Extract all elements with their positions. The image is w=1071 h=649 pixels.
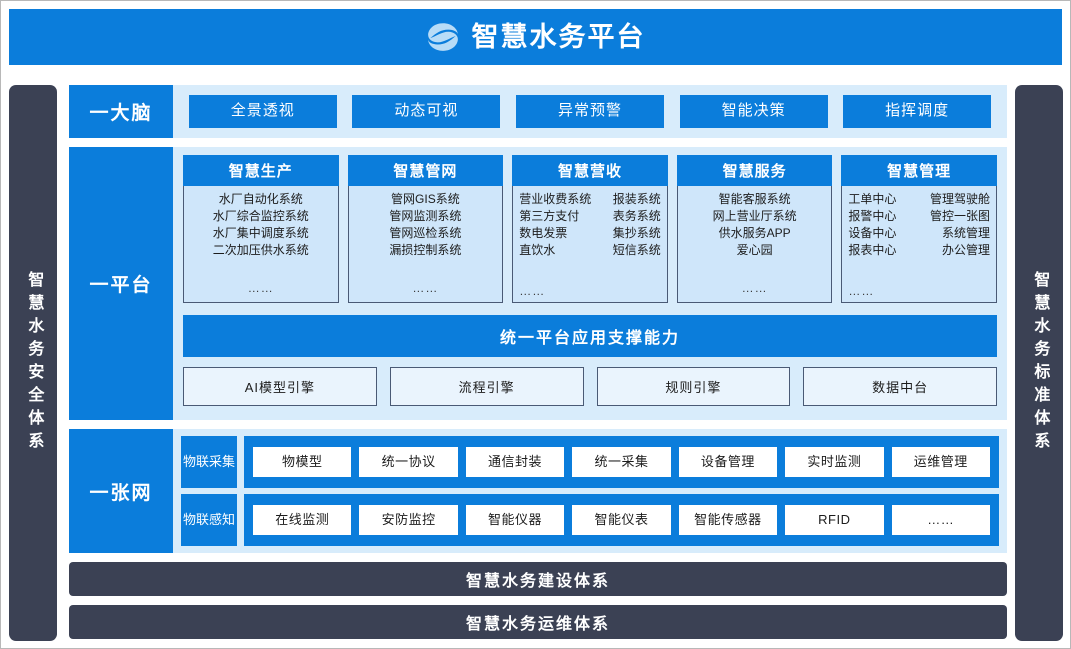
engine-chip[interactable]: AI模型引擎 xyxy=(183,367,377,406)
list-item[interactable]: 管网GIS系统 xyxy=(391,191,460,208)
network-row-iot-sensing: 物联感知 在线监测 安防监控 智能仪器 智能仪表 智能传感器 RFID …… xyxy=(181,494,999,546)
list-item-pair: 报表中心 办公管理 xyxy=(846,242,992,259)
network-sublabel: 物联采集 xyxy=(181,436,237,488)
list-item[interactable]: 直饮水 xyxy=(519,242,555,259)
list-item[interactable]: 集抄系统 xyxy=(613,225,661,242)
list-item[interactable]: 工单中心 xyxy=(848,191,896,208)
engine-chip-row: AI模型引擎 流程引擎 规则引擎 数据中台 xyxy=(183,367,997,406)
list-item[interactable]: 管网监测系统 xyxy=(389,208,461,225)
network-chip[interactable]: 安防监控 xyxy=(359,505,457,535)
network-row-iot-collection: 物联采集 物模型 统一协议 通信封装 统一采集 设备管理 实时监测 运维管理 xyxy=(181,436,999,488)
business-card-smart-pipe-network: 智慧管网 管网GIS系统 管网监测系统 管网巡检系统 漏损控制系统 …… xyxy=(348,155,504,303)
water-leaf-logo-icon xyxy=(426,20,460,54)
list-ellipsis: …… xyxy=(248,280,274,300)
card-title: 智慧生产 xyxy=(183,155,339,186)
left-side-panel-label: 智慧水务安全体系 xyxy=(25,271,42,455)
list-item[interactable]: 管网巡检系统 xyxy=(389,225,461,242)
list-item[interactable]: 管控一张图 xyxy=(930,208,990,225)
list-item[interactable]: 二次加压供水系统 xyxy=(213,242,309,259)
bottom-bar-operations-system: 智慧水务运维体系 xyxy=(69,605,1007,639)
network-chip[interactable]: 运维管理 xyxy=(892,447,990,477)
network-body: 物联采集 物模型 统一协议 通信封装 统一采集 设备管理 实时监测 运维管理 物… xyxy=(173,429,1007,553)
architecture-diagram-page: 智慧水务平台 智慧水务安全体系 智慧水务标准体系 一大脑 全景透视 动态可视 异… xyxy=(0,0,1071,649)
list-item[interactable]: 办公管理 xyxy=(942,242,990,259)
network-sublabel: 物联感知 xyxy=(181,494,237,546)
card-title: 智慧管网 xyxy=(348,155,504,186)
platform-body: 智慧生产 水厂自动化系统 水厂综合监控系统 水厂集中调度系统 二次加压供水系统 … xyxy=(173,147,1007,420)
list-item-pair: 工单中心 管理驾驶舱 xyxy=(846,191,992,208)
center-content: 一大脑 全景透视 动态可视 异常预警 智能决策 指挥调度 一平台 智慧生产 水厂… xyxy=(69,85,1007,641)
tier-one-platform: 一平台 智慧生产 水厂自动化系统 水厂综合监控系统 水厂集中调度系统 二次加压供… xyxy=(69,147,1007,420)
brain-chip-band: 全景透视 动态可视 异常预警 智能决策 指挥调度 xyxy=(173,85,1007,138)
network-chip[interactable]: 统一采集 xyxy=(572,447,670,477)
right-side-panel-standards: 智慧水务标准体系 xyxy=(1015,85,1063,641)
list-item-pair: 设备中心 系统管理 xyxy=(846,225,992,242)
card-item-list: 水厂自动化系统 水厂综合监控系统 水厂集中调度系统 二次加压供水系统 …… xyxy=(183,186,339,303)
network-chip[interactable]: 智能仪表 xyxy=(572,505,670,535)
list-item[interactable]: 水厂自动化系统 xyxy=(219,191,303,208)
business-card-smart-management: 智慧管理 工单中心 管理驾驶舱 报警中心 管控一张图 设备中心 xyxy=(841,155,997,303)
network-chip[interactable]: 通信封装 xyxy=(466,447,564,477)
card-item-list: 营业收费系统 报装系统 第三方支付 表务系统 数电发票 集抄系统 xyxy=(512,186,668,303)
right-side-panel-label: 智慧水务标准体系 xyxy=(1031,271,1048,455)
business-card-smart-revenue: 智慧营收 营业收费系统 报装系统 第三方支付 表务系统 数电发票 xyxy=(512,155,668,303)
card-item-list: 工单中心 管理驾驶舱 报警中心 管控一张图 设备中心 系统管理 xyxy=(841,186,997,303)
tier-one-brain-label: 一大脑 xyxy=(69,85,173,138)
platform-support-bar: 统一平台应用支撑能力 xyxy=(183,315,997,357)
list-item[interactable]: 报装系统 xyxy=(613,191,661,208)
brain-chip[interactable]: 动态可视 xyxy=(352,95,500,128)
brain-chip[interactable]: 指挥调度 xyxy=(843,95,991,128)
list-item[interactable]: 管理驾驶舱 xyxy=(930,191,990,208)
page-title: 智慧水务平台 xyxy=(472,24,646,51)
list-item[interactable]: 水厂集中调度系统 xyxy=(213,225,309,242)
list-item[interactable]: 设备中心 xyxy=(848,225,896,242)
engine-chip[interactable]: 规则引擎 xyxy=(597,367,791,406)
network-chip[interactable]: 统一协议 xyxy=(359,447,457,477)
business-card-smart-production: 智慧生产 水厂自动化系统 水厂综合监控系统 水厂集中调度系统 二次加压供水系统 … xyxy=(183,155,339,303)
card-item-list: 管网GIS系统 管网监测系统 管网巡检系统 漏损控制系统 …… xyxy=(348,186,504,303)
business-card-smart-service: 智慧服务 智能客服系统 网上营业厅系统 供水服务APP 爱心园 …… xyxy=(677,155,833,303)
card-title: 智慧管理 xyxy=(841,155,997,186)
network-chip[interactable]: RFID xyxy=(785,505,883,535)
network-chip-band: 物模型 统一协议 通信封装 统一采集 设备管理 实时监测 运维管理 xyxy=(244,436,999,488)
engine-chip[interactable]: 数据中台 xyxy=(803,367,997,406)
list-item[interactable]: 漏损控制系统 xyxy=(389,242,461,259)
network-chip[interactable]: 设备管理 xyxy=(679,447,777,477)
card-item-list: 智能客服系统 网上营业厅系统 供水服务APP 爱心园 …… xyxy=(677,186,833,303)
list-item[interactable]: 网上营业厅系统 xyxy=(713,208,797,225)
brain-chip[interactable]: 全景透视 xyxy=(189,95,337,128)
list-item[interactable]: 供水服务APP xyxy=(719,225,791,242)
list-item[interactable]: 智能客服系统 xyxy=(719,191,791,208)
page-header: 智慧水务平台 xyxy=(9,9,1062,65)
engine-chip[interactable]: 流程引擎 xyxy=(390,367,584,406)
business-card-row: 智慧生产 水厂自动化系统 水厂综合监控系统 水厂集中调度系统 二次加压供水系统 … xyxy=(183,155,997,303)
list-ellipsis: …… xyxy=(517,283,663,300)
list-item[interactable]: 第三方支付 xyxy=(519,208,579,225)
tier-one-platform-label: 一平台 xyxy=(69,147,173,420)
list-ellipsis: …… xyxy=(412,280,438,300)
network-chip[interactable]: 智能传感器 xyxy=(679,505,777,535)
list-item[interactable]: 数电发票 xyxy=(519,225,567,242)
network-chip[interactable]: 实时监测 xyxy=(785,447,883,477)
card-title: 智慧服务 xyxy=(677,155,833,186)
list-item[interactable]: 报表中心 xyxy=(848,242,896,259)
list-ellipsis: …… xyxy=(742,280,768,300)
brain-chip[interactable]: 异常预警 xyxy=(516,95,664,128)
left-side-panel-security: 智慧水务安全体系 xyxy=(9,85,57,641)
bottom-bar-construction-system: 智慧水务建设体系 xyxy=(69,562,1007,596)
tier-one-network-label: 一张网 xyxy=(69,429,173,553)
list-item[interactable]: 营业收费系统 xyxy=(519,191,591,208)
list-item[interactable]: 系统管理 xyxy=(942,225,990,242)
list-item[interactable]: 报警中心 xyxy=(848,208,896,225)
tier-one-network: 一张网 物联采集 物模型 统一协议 通信封装 统一采集 设备管理 实时监测 运维… xyxy=(69,429,1007,553)
list-item[interactable]: 水厂综合监控系统 xyxy=(213,208,309,225)
card-title: 智慧营收 xyxy=(512,155,668,186)
brain-chip[interactable]: 智能决策 xyxy=(680,95,828,128)
list-item-pair: 第三方支付 表务系统 xyxy=(517,208,663,225)
network-chip[interactable]: …… xyxy=(892,505,990,535)
list-item-pair: 报警中心 管控一张图 xyxy=(846,208,992,225)
network-chip[interactable]: 智能仪器 xyxy=(466,505,564,535)
tier-one-brain: 一大脑 全景透视 动态可视 异常预警 智能决策 指挥调度 xyxy=(69,85,1007,138)
list-item[interactable]: 短信系统 xyxy=(613,242,661,259)
list-ellipsis: …… xyxy=(846,283,992,300)
list-item-pair: 营业收费系统 报装系统 xyxy=(517,191,663,208)
network-chip-band: 在线监测 安防监控 智能仪器 智能仪表 智能传感器 RFID …… xyxy=(244,494,999,546)
list-item-pair: 数电发票 集抄系统 xyxy=(517,225,663,242)
list-item-pair: 直饮水 短信系统 xyxy=(517,242,663,259)
list-item[interactable]: 爱心园 xyxy=(737,242,773,259)
network-chip[interactable]: 在线监测 xyxy=(253,505,351,535)
list-item[interactable]: 表务系统 xyxy=(613,208,661,225)
network-chip[interactable]: 物模型 xyxy=(253,447,351,477)
